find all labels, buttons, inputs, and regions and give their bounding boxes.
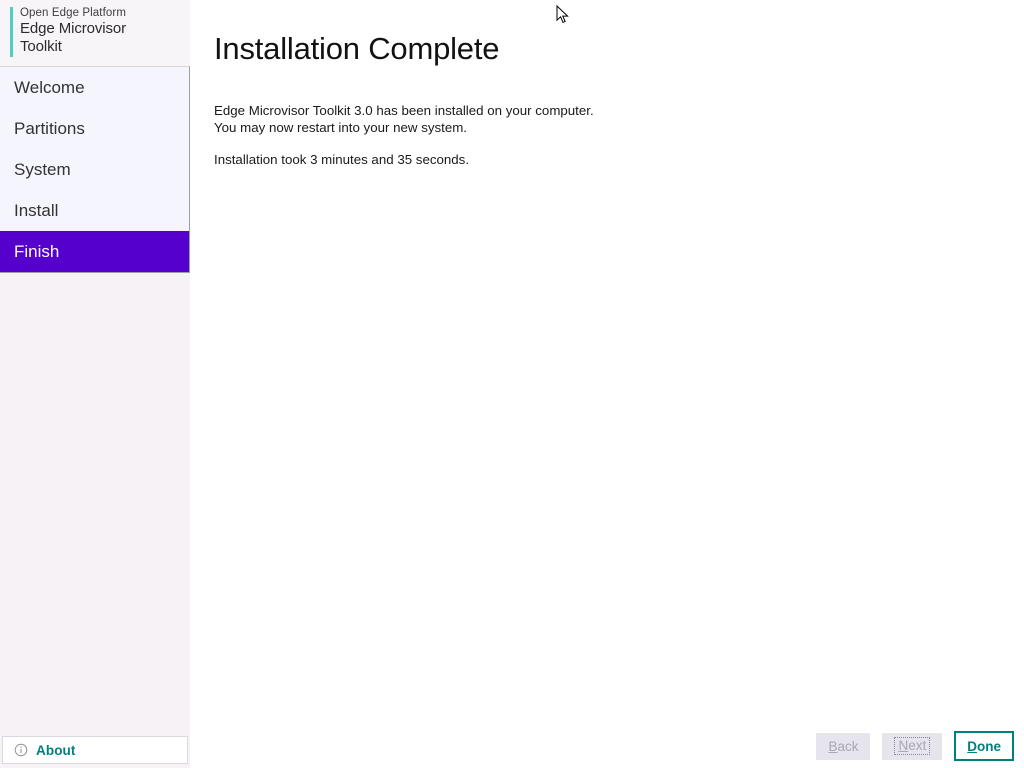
done-button[interactable]: Done [954, 731, 1014, 761]
installer-window: Open Edge Platform Edge Microvisor Toolk… [0, 0, 1024, 768]
installer-step-nav: Welcome Partitions System Install Finish [0, 66, 190, 273]
main-content: Installation Complete Edge Microvisor To… [190, 0, 1024, 768]
next-rest: ext [908, 738, 926, 753]
back-button[interactable]: Back [816, 733, 870, 760]
message-line-1: Edge Microvisor Toolkit 3.0 has been ins… [214, 103, 594, 120]
message-paragraph-2: Installation took 3 minutes and 35 secon… [214, 152, 594, 169]
sidebar: Open Edge Platform Edge Microvisor Toolk… [0, 0, 190, 768]
sidebar-item-welcome[interactable]: Welcome [0, 67, 189, 108]
about-button-label: About [36, 743, 75, 758]
sidebar-item-label: Finish [14, 242, 59, 262]
sidebar-spacer [0, 273, 190, 768]
next-mnemonic: N [898, 738, 908, 753]
sidebar-item-label: Partitions [14, 119, 85, 139]
info-circle-icon [14, 743, 28, 757]
brand-title-line1: Edge Microvisor [20, 20, 190, 38]
sidebar-item-label: Welcome [14, 78, 85, 98]
brand-eyebrow: Open Edge Platform [20, 6, 190, 20]
sidebar-item-partitions[interactable]: Partitions [0, 108, 189, 149]
page-title: Installation Complete [214, 31, 499, 67]
done-rest: one [977, 739, 1001, 754]
sidebar-item-finish[interactable]: Finish [0, 231, 189, 272]
back-rest: ack [837, 739, 858, 754]
brand-title-line2: Toolkit [20, 38, 190, 56]
install-duration-text: Installation took 3 minutes and 35 secon… [214, 152, 594, 169]
next-button[interactable]: Next [882, 733, 942, 760]
brand-accent-bar [10, 7, 13, 57]
about-button[interactable]: About [2, 736, 188, 764]
next-button-label: Next [894, 737, 930, 755]
footer-button-bar: Back Next Done [816, 731, 1014, 761]
message-paragraph-1: Edge Microvisor Toolkit 3.0 has been ins… [214, 103, 594, 136]
back-button-label: Back [828, 739, 858, 754]
message-line-2: You may now restart into your new system… [214, 120, 594, 137]
completion-message: Edge Microvisor Toolkit 3.0 has been ins… [214, 103, 594, 169]
sidebar-item-label: System [14, 160, 71, 180]
sidebar-item-install[interactable]: Install [0, 190, 189, 231]
sidebar-item-label: Install [14, 201, 58, 221]
brand-header: Open Edge Platform Edge Microvisor Toolk… [0, 0, 190, 66]
done-button-label: Done [967, 739, 1001, 754]
done-mnemonic: D [967, 739, 977, 754]
sidebar-item-system[interactable]: System [0, 149, 189, 190]
brand-text: Open Edge Platform Edge Microvisor Toolk… [10, 6, 190, 55]
